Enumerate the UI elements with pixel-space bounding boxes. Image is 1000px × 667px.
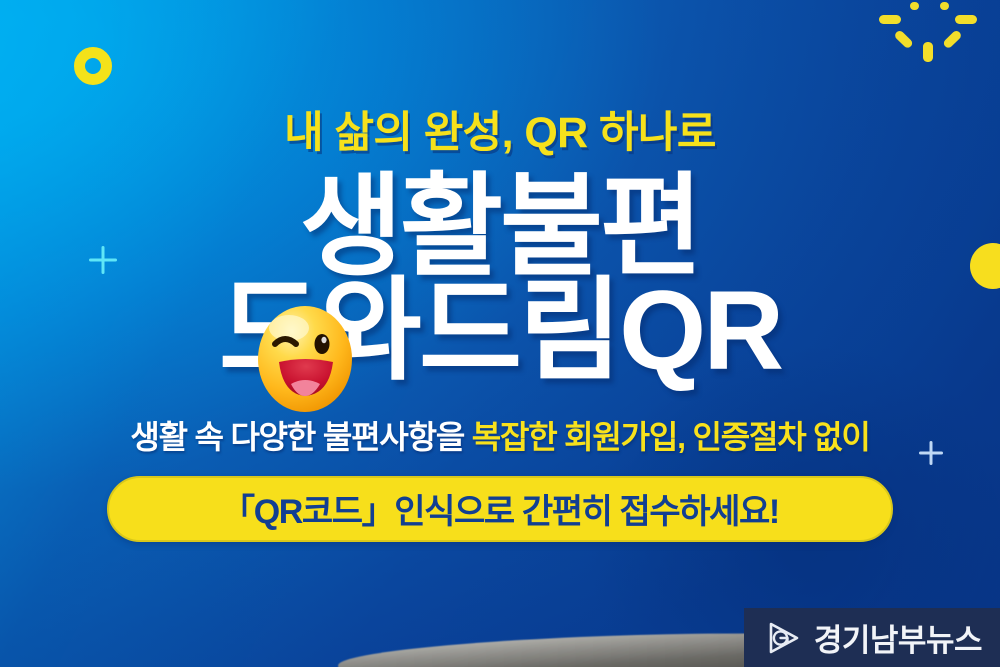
- headline-line-2-before: 도: [219, 268, 319, 393]
- headline: 생활불편 도와드림QR: [219, 172, 781, 386]
- subtitle: 생활 속 다양한 불편사항을 복잡한 회원가입, 인증절차 없이: [130, 412, 869, 458]
- headline-line-1: 생활불편: [219, 172, 781, 282]
- watermark-label: 경기남부뉴스: [814, 615, 982, 660]
- headline-line-2-after: 와드림QR: [319, 268, 781, 393]
- cta-label: 「QR코드」인식으로 간편히 접수하세요!: [221, 484, 779, 533]
- cta-pill-button[interactable]: 「QR코드」인식으로 간편히 접수하세요!: [107, 476, 893, 542]
- headline-line-2: 도와드림QR: [219, 276, 781, 386]
- tagline: 내 삶의 완성, QR 하나로: [284, 98, 716, 160]
- subtitle-white-part: 생활 속 다양한 불편사항을: [130, 419, 464, 455]
- play-button-g-logo-icon: [766, 620, 802, 656]
- watermark: 경기남부뉴스: [744, 608, 1000, 667]
- banner-content: 내 삶의 완성, QR 하나로 생활불편 도와드림QR 생활 속 다양한 불편사…: [0, 0, 1000, 667]
- subtitle-yellow-part: 복잡한 회원가입, 인증절차 없이: [472, 419, 870, 455]
- promo-banner: 내 삶의 완성, QR 하나로 생활불편 도와드림QR 생활 속 다양한 불편사…: [0, 0, 1000, 667]
